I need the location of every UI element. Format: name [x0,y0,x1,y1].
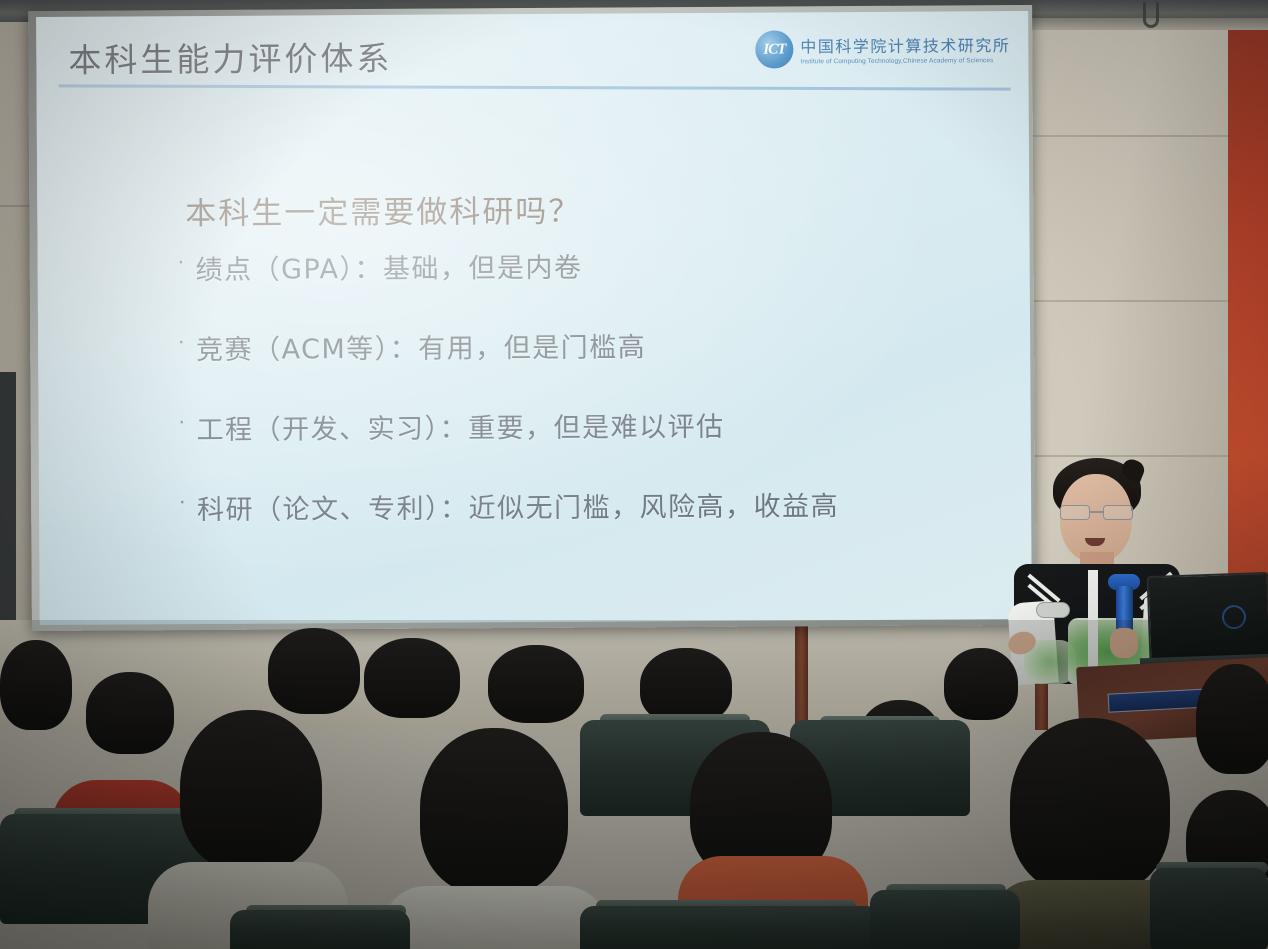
presenter-right-hand [1110,628,1138,658]
ict-logo: ICT 中国科学院计算技术研究所 Institute of Computing … [755,29,1010,69]
bullet-marker: · [178,248,186,277]
audience-head [364,638,460,718]
glasses-left-lens [1060,505,1090,520]
slide-heading: 本科生一定需要做科研吗？ [185,186,581,233]
auditorium-seat [870,890,1020,949]
audience-head [640,648,732,724]
ict-logo-text: 中国科学院计算技术研究所 Institute of Computing Tech… [800,32,1010,65]
glasses-icon [1058,505,1136,520]
ict-logo-mark: ICT [755,30,793,68]
audience-head [420,728,568,894]
ceiling-hook-icon [1143,2,1159,28]
glasses-right-lens [1103,505,1133,520]
audience-head [488,645,584,723]
audience-head [86,672,174,754]
bullet-marker: · [178,328,186,357]
bullet-text: 科研（论文、专利）：近似无门槛，风险高，收益高 [197,484,839,527]
audience-head [1010,718,1170,894]
bullet-item: · 竞赛（ACM等）：有用，但是门槛高 [178,323,1008,367]
audience-striped-shirt [382,886,608,949]
slide-title-underline [59,84,1011,90]
auditorium-seat [580,906,880,949]
jacket-badge [1036,602,1070,618]
slide-title: 本科生能力评价体系 [68,32,392,82]
wood-trim-strip [795,620,808,730]
bullet-marker: · [179,408,187,437]
audience-head [1196,664,1268,774]
bullet-text: 工程（开发、实习）：重要，但是难以评估 [196,405,724,447]
bullet-item: · 工程（开发、实习）：重要，但是难以评估 [179,403,1009,447]
audience-head [944,648,1018,720]
bullet-marker: · [179,488,187,517]
audience-head [0,640,72,730]
bullet-text: 竞赛（ACM等）：有用，但是门槛高 [196,325,646,367]
bullet-text: 绩点（GPA）：基础，但是内卷 [195,246,582,287]
presentation-slide: 本科生能力评价体系 ICT 中国科学院计算技术研究所 Institute of … [36,11,1032,625]
laptop-emblem-icon [1222,605,1247,630]
audience-head [268,628,360,714]
audience-head [180,710,322,870]
auditorium-seat [230,910,410,949]
ict-logo-english-name: Institute of Computing Technology,Chines… [800,57,1010,65]
right-wall-seam-1 [1030,135,1230,137]
red-accent-wall [1228,22,1268,642]
auditorium-seat [1150,868,1268,949]
ict-logo-chinese-name: 中国科学院计算技术研究所 [800,32,1010,57]
bullet-item: · 科研（论文、专利）：近似无门槛，风险高，收益高 [179,483,1009,527]
left-wall-dark-recess [0,372,16,622]
ceiling-beam-shadow [1010,18,1268,30]
laptop [1147,572,1268,662]
lecture-hall-photo: 本科生能力评价体系 ICT 中国科学院计算技术研究所 Institute of … [0,0,1268,949]
bullet-item: · 绩点（GPA）：基础，但是内卷 [178,243,1008,287]
slide-bullet-list: · 绩点（GPA）：基础，但是内卷 · 竞赛（ACM等）：有用，但是门槛高 · … [178,243,1010,568]
glasses-bridge [1090,511,1103,513]
right-wall-seam-2 [1030,300,1230,302]
